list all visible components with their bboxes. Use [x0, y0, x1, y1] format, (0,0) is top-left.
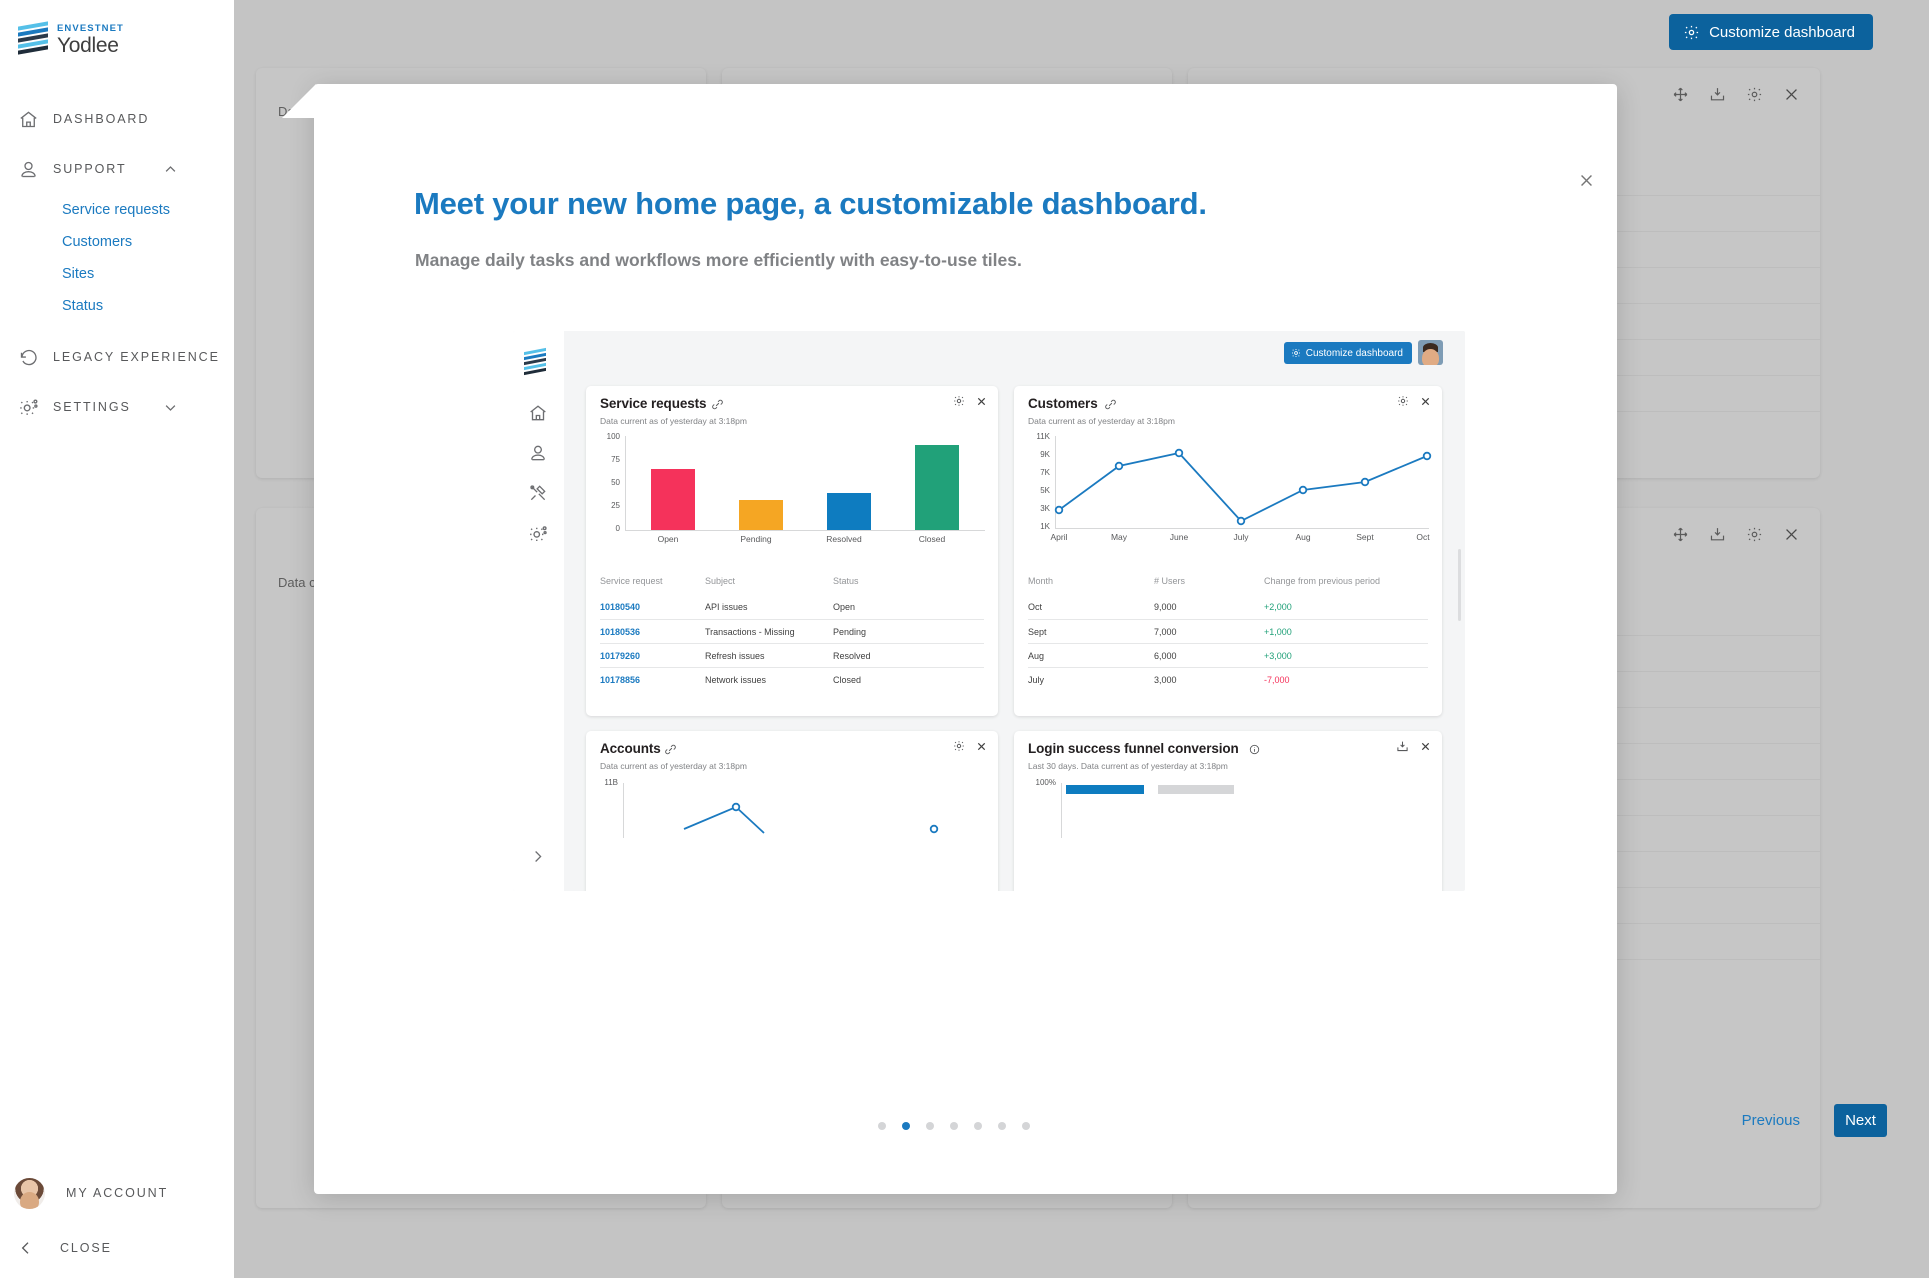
cell-service-request-id[interactable]: 10178856 — [600, 675, 705, 685]
download-icon[interactable] — [1709, 526, 1726, 543]
bar-closed — [915, 445, 959, 530]
tile-icon-row — [953, 740, 987, 752]
sidebar-close-button[interactable]: CLOSE — [0, 1218, 234, 1278]
bar-login-remaining — [1158, 785, 1234, 794]
avatar — [14, 1178, 45, 1209]
column-header: Status — [833, 576, 859, 586]
cell-status: Resolved — [833, 651, 871, 661]
link-icon[interactable] — [664, 743, 677, 756]
close-icon[interactable] — [976, 741, 987, 752]
brand-bottom-text: Yodlee — [57, 35, 124, 56]
sidebar-subitem-label: Status — [62, 298, 103, 314]
table-row: Aug 6,000 +3,000 — [1028, 643, 1428, 667]
table-row[interactable]: 10180540 API issues Open — [600, 595, 984, 619]
x-axis — [625, 530, 985, 531]
sidebar-item-support[interactable]: SUPPORT — [0, 144, 234, 194]
modal-title: Meet your new home page, a customizable … — [414, 186, 1207, 222]
x-tick-label: July — [1216, 532, 1266, 542]
tile-icon-row — [1397, 395, 1431, 407]
background-tile-icon-row — [1672, 86, 1800, 103]
cell-change: +3,000 — [1264, 651, 1292, 661]
sidebar-item-service-requests[interactable]: Service requests — [62, 194, 234, 226]
gear-icon[interactable] — [953, 395, 965, 407]
chevron-right-icon[interactable] — [530, 849, 545, 864]
cell-service-request-id[interactable]: 10179260 — [600, 651, 705, 661]
table-row[interactable]: 10179260 Refresh issues Resolved — [600, 643, 984, 667]
preview-scrollbar[interactable] — [1458, 549, 1461, 621]
y-tick-label: 100 — [596, 432, 620, 441]
cell-subject: Network issues — [705, 675, 833, 685]
close-icon[interactable] — [1420, 396, 1431, 407]
cell-subject: Refresh issues — [705, 651, 833, 661]
y-tick-label: 100% — [1024, 778, 1056, 787]
carousel-dot-6[interactable] — [998, 1122, 1006, 1130]
cell-service-request-id[interactable]: 10180540 — [600, 602, 705, 612]
cell-month: Sept — [1028, 627, 1154, 637]
download-icon[interactable] — [1396, 740, 1409, 753]
link-icon[interactable] — [711, 398, 724, 411]
sidebar-item-legacy-experience[interactable]: LEGACY EXPERIENCE — [0, 332, 234, 382]
support-person-icon[interactable] — [528, 443, 548, 463]
chevron-down-icon[interactable] — [163, 400, 178, 415]
avatar[interactable] — [1418, 340, 1443, 365]
preview-customize-dashboard-button[interactable]: Customize dashboard — [1284, 342, 1412, 364]
tools-icon[interactable] — [528, 483, 548, 503]
y-tick-label: 50 — [596, 478, 620, 487]
carousel-dot-7[interactable] — [1022, 1122, 1030, 1130]
gear-icon — [1683, 24, 1700, 41]
home-icon — [18, 106, 48, 132]
sidebar-subitem-label: Sites — [62, 266, 94, 282]
tile-title: Accounts — [600, 741, 661, 756]
info-icon[interactable] — [1249, 744, 1260, 755]
bar-resolved — [827, 493, 871, 530]
table-row[interactable]: 10180536 Transactions - Missing Pending — [600, 619, 984, 643]
tile-icon-row — [1396, 740, 1431, 753]
tile-subtitle: Data current as of yesterday at 3:18pm — [600, 416, 747, 426]
cell-users: 6,000 — [1154, 651, 1264, 661]
service-requests-bar-chart: 100 75 50 25 0 Open Pending Resolved Clo… — [596, 436, 988, 546]
column-header: # Users — [1154, 576, 1264, 586]
background-tile-icon-row — [1672, 526, 1800, 543]
sidebar-bottom: MY ACCOUNT CLOSE — [0, 1168, 234, 1278]
y-tick-label: 3K — [1024, 504, 1050, 513]
bar-open — [651, 469, 695, 530]
cell-month: Oct — [1028, 602, 1154, 612]
chevron-up-icon[interactable] — [163, 162, 178, 177]
sidebar-item-customers[interactable]: Customers — [62, 226, 234, 258]
gear-icon — [1291, 348, 1301, 358]
x-tick-label: Aug — [1278, 532, 1328, 542]
sidebar-subitem-label: Customers — [62, 234, 132, 250]
y-tick-label: 25 — [596, 501, 620, 510]
link-icon[interactable] — [1104, 398, 1117, 411]
chevron-left-icon — [18, 1240, 34, 1256]
tile-login-success-funnel-conversion: Login success funnel conversion Last 30 … — [1014, 731, 1442, 891]
sidebar-item-settings[interactable]: SETTINGS — [0, 382, 234, 432]
y-tick-label: 9K — [1024, 450, 1050, 459]
y-tick-label: 7K — [1024, 468, 1050, 477]
tile-service-requests: Service requests Data current as of yest… — [586, 386, 998, 716]
tile-icon-row — [953, 395, 987, 407]
customers-table: Month # Users Change from previous perio… — [1028, 576, 1428, 691]
cell-change: -7,000 — [1264, 675, 1290, 685]
my-account-label: MY ACCOUNT — [66, 1186, 168, 1200]
gear-icon[interactable] — [953, 740, 965, 752]
table-row: Sept 7,000 +1,000 — [1028, 619, 1428, 643]
gear-cogs-icon[interactable] — [528, 523, 548, 543]
bar-pending — [739, 500, 783, 530]
sidebar-item-label: SETTINGS — [53, 400, 131, 414]
gear-icon[interactable] — [1397, 395, 1409, 407]
cell-month: Aug — [1028, 651, 1154, 661]
carousel-dot-4[interactable] — [950, 1122, 958, 1130]
y-tick-label: 11K — [1024, 432, 1050, 441]
envestnet-yodlee-logo-icon — [524, 350, 546, 378]
cell-month: July — [1028, 675, 1154, 685]
brand-top-text: ENVESTNET — [57, 24, 124, 34]
cell-users: 3,000 — [1154, 675, 1264, 685]
carousel-dot-2[interactable] — [902, 1122, 910, 1130]
sidebar-item-label: LEGACY EXPERIENCE — [53, 350, 220, 364]
gear-icon[interactable] — [1746, 526, 1763, 543]
x-tick-label: Oct — [1398, 532, 1448, 542]
x-tick-label: Closed — [887, 534, 977, 544]
table-row[interactable]: 10178856 Network issues Closed — [600, 667, 984, 691]
close-icon[interactable] — [1420, 741, 1431, 752]
column-header: Subject — [705, 576, 833, 586]
table-header-row: Month # Users Change from previous perio… — [1028, 576, 1428, 595]
close-icon[interactable] — [1783, 86, 1800, 103]
previous-button[interactable]: Previous — [1742, 1112, 1800, 1129]
next-button[interactable]: Next — [1834, 1104, 1887, 1137]
tile-subtitle: Data current as of yesterday at 3:18pm — [1028, 416, 1175, 426]
y-tick-label: 0 — [596, 524, 620, 533]
carousel-dot-3[interactable] — [926, 1122, 934, 1130]
customize-dashboard-button[interactable]: Customize dashboard — [1669, 14, 1873, 50]
x-tick-label: Open — [623, 534, 713, 544]
left-sidebar: ENVESTNET Yodlee DASHBOARD SUPPORT — [0, 0, 234, 1278]
x-tick-label: Resolved — [799, 534, 889, 544]
cell-users: 7,000 — [1154, 627, 1264, 637]
close-icon[interactable] — [976, 396, 987, 407]
brand-logo: ENVESTNET Yodlee — [18, 22, 124, 58]
sidebar-item-dashboard[interactable]: DASHBOARD — [0, 94, 234, 144]
cell-status: Closed — [833, 675, 861, 685]
download-icon[interactable] — [1709, 86, 1726, 103]
cell-users: 9,000 — [1154, 602, 1264, 612]
preview-topbar: Customize dashboard — [564, 331, 1465, 375]
x-tick-label: June — [1154, 532, 1204, 542]
tile-title: Customers — [1028, 396, 1098, 411]
home-icon[interactable] — [528, 403, 548, 423]
carousel-dots — [878, 1122, 1030, 1130]
x-tick-label: April — [1034, 532, 1084, 542]
login-funnel-bar-chart: 100% — [1024, 781, 1434, 841]
history-undo-icon — [18, 344, 48, 370]
close-icon[interactable] — [1783, 526, 1800, 543]
cell-service-request-id[interactable]: 10180536 — [600, 627, 705, 637]
carousel-dot-1[interactable] — [878, 1122, 886, 1130]
column-header: Service request — [600, 576, 705, 586]
cell-change: +2,000 — [1264, 602, 1292, 612]
y-axis — [1061, 783, 1062, 838]
modal-subtitle: Manage daily tasks and workflows more ef… — [415, 250, 1022, 271]
cell-change: +1,000 — [1264, 627, 1292, 637]
sidebar-nav: DASHBOARD SUPPORT Service requests Custo… — [0, 94, 234, 432]
sidebar-item-label: SUPPORT — [53, 162, 127, 176]
sidebar-item-status[interactable]: Status — [62, 290, 234, 322]
y-tick-label: 75 — [596, 455, 620, 464]
table-header-row: Service request Subject Status — [600, 576, 984, 595]
accounts-line-chart: 11B — [596, 781, 988, 841]
y-tick-label: 5K — [1024, 486, 1050, 495]
tile-customers: Customers Data current as of yesterday a… — [1014, 386, 1442, 716]
carousel-dot-5[interactable] — [974, 1122, 982, 1130]
customers-series — [1055, 436, 1433, 528]
column-header: Change from previous period — [1264, 576, 1380, 586]
x-axis — [1055, 528, 1429, 529]
modal-pointer-notch — [282, 84, 316, 148]
accounts-series — [624, 785, 988, 837]
table-row: July 3,000 -7,000 — [1028, 667, 1428, 691]
sidebar-item-label: DASHBOARD — [53, 112, 149, 126]
service-requests-table: Service request Subject Status 10180540 … — [600, 576, 984, 691]
x-tick-label: May — [1094, 532, 1144, 542]
envestnet-yodlee-logo-icon — [18, 22, 48, 58]
sidebar-subitem-label: Service requests — [62, 202, 170, 218]
tile-title: Service requests — [600, 396, 706, 411]
modal-close-button[interactable] — [1578, 172, 1595, 189]
customers-line-chart: 11K 9K 7K 5K 3K 1K April May June July — [1024, 436, 1434, 546]
y-tick-label: 11B — [596, 778, 618, 787]
x-tick-label: Sept — [1340, 532, 1390, 542]
tile-subtitle: Data current as of yesterday at 3:18pm — [600, 761, 747, 771]
sidebar-close-label: CLOSE — [60, 1241, 112, 1255]
sidebar-item-sites[interactable]: Sites — [62, 258, 234, 290]
tile-subtitle: Last 30 days. Data current as of yesterd… — [1028, 761, 1228, 771]
table-row: Oct 9,000 +2,000 — [1028, 595, 1428, 619]
move-icon[interactable] — [1672, 526, 1689, 543]
cell-subject: API issues — [705, 602, 833, 612]
support-person-icon — [18, 156, 48, 182]
y-tick-label: 1K — [1024, 522, 1050, 531]
bar-login-success — [1066, 785, 1144, 794]
dashboard-preview: Customize dashboard Service requests Dat… — [513, 331, 1465, 891]
gear-icon[interactable] — [1746, 86, 1763, 103]
move-icon[interactable] — [1672, 86, 1689, 103]
support-submenu: Service requests Customers Sites Status — [0, 194, 234, 322]
cell-subject: Transactions - Missing — [705, 627, 833, 637]
tile-title: Login success funnel conversion — [1028, 741, 1239, 756]
preview-left-rail — [513, 331, 564, 891]
x-tick-label: Pending — [711, 534, 801, 544]
cell-status: Pending — [833, 627, 866, 637]
column-header: Month — [1028, 576, 1154, 586]
gear-cogs-icon — [18, 394, 48, 420]
cell-status: Open — [833, 602, 855, 612]
tile-accounts: Accounts Data current as of yesterday at… — [586, 731, 998, 891]
sidebar-item-my-account[interactable]: MY ACCOUNT — [0, 1168, 234, 1218]
